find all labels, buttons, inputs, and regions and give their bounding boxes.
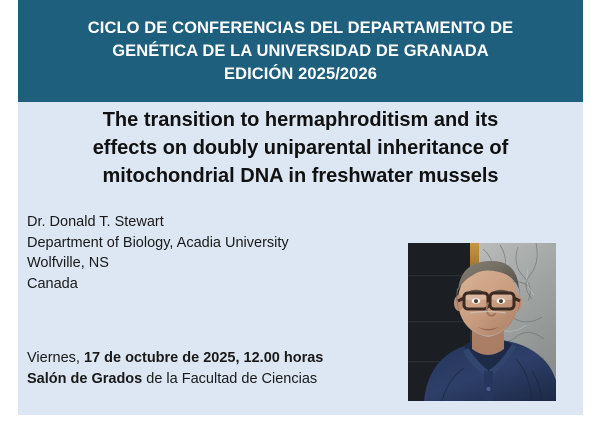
event-details: Viernes, 17 de octubre de 2025, 12.00 ho…	[27, 348, 407, 390]
event-venue-name: Salón de Grados	[27, 371, 142, 387]
event-venue-rest: de la Facultad de Ciencias	[142, 371, 317, 387]
event-venue-line: Salón de Grados de la Facultad de Cienci…	[27, 369, 407, 390]
speaker-name: Dr. Donald T. Stewart	[27, 212, 407, 233]
event-date-time: 17 de octubre de 2025, 12.00 horas	[84, 350, 323, 366]
speaker-city: Wolfville, NS	[27, 253, 407, 274]
speaker-portrait-illustration	[408, 243, 556, 401]
header-line-1: CICLO DE CONFERENCIAS DEL DEPARTAMENTO D…	[88, 17, 514, 40]
header-banner: CICLO DE CONFERENCIAS DEL DEPARTAMENTO D…	[18, 0, 583, 102]
speaker-details: Dr. Donald T. Stewart Department of Biol…	[27, 212, 407, 294]
talk-title-line-2: effects on doubly uniparental inheritanc…	[36, 134, 565, 162]
conference-announcement-slide: CICLO DE CONFERENCIAS DEL DEPARTAMENTO D…	[18, 0, 583, 415]
speaker-photo	[408, 243, 556, 401]
header-line-2: GENÉTICA DE LA UNIVERSIDAD DE GRANADA	[112, 40, 489, 63]
event-date-line: Viernes, 17 de octubre de 2025, 12.00 ho…	[27, 348, 407, 369]
talk-title-line-1: The transition to hermaphroditism and it…	[36, 106, 565, 134]
talk-title: The transition to hermaphroditism and it…	[18, 106, 583, 190]
header-line-3: EDICIÓN 2025/2026	[224, 63, 377, 86]
speaker-country: Canada	[27, 274, 407, 295]
event-day-label: Viernes,	[27, 350, 84, 366]
speaker-affiliation: Department of Biology, Acadia University	[27, 233, 407, 254]
talk-title-line-3: mitochondrial DNA in freshwater mussels	[36, 162, 565, 190]
